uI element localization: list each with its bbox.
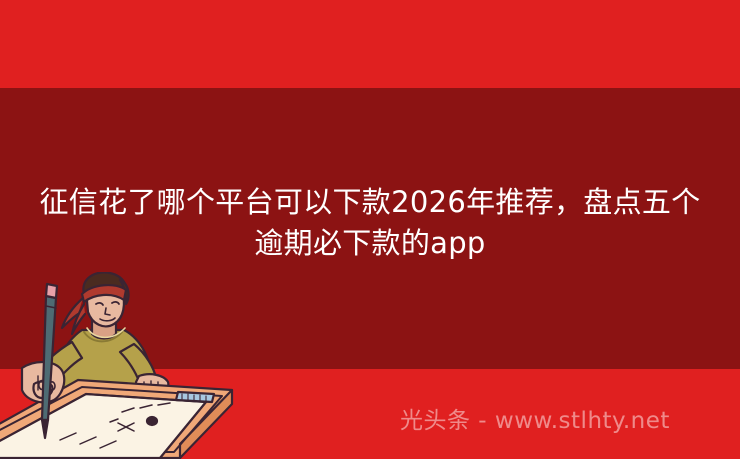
site-watermark: 光头条 - www.stlhty.net xyxy=(400,406,670,436)
article-cover-image: 征信花了哪个平台可以下款2026年推荐，盘点五个逾期必下款的app 光头条 - … xyxy=(0,0,740,459)
pencil-eraser xyxy=(46,284,57,298)
page-title: 征信花了哪个平台可以下款2026年推荐，盘点五个逾期必下款的app xyxy=(30,182,710,264)
paper-dot xyxy=(147,417,157,425)
person-drafting-illustration xyxy=(0,272,260,459)
background-band-top xyxy=(0,0,740,88)
